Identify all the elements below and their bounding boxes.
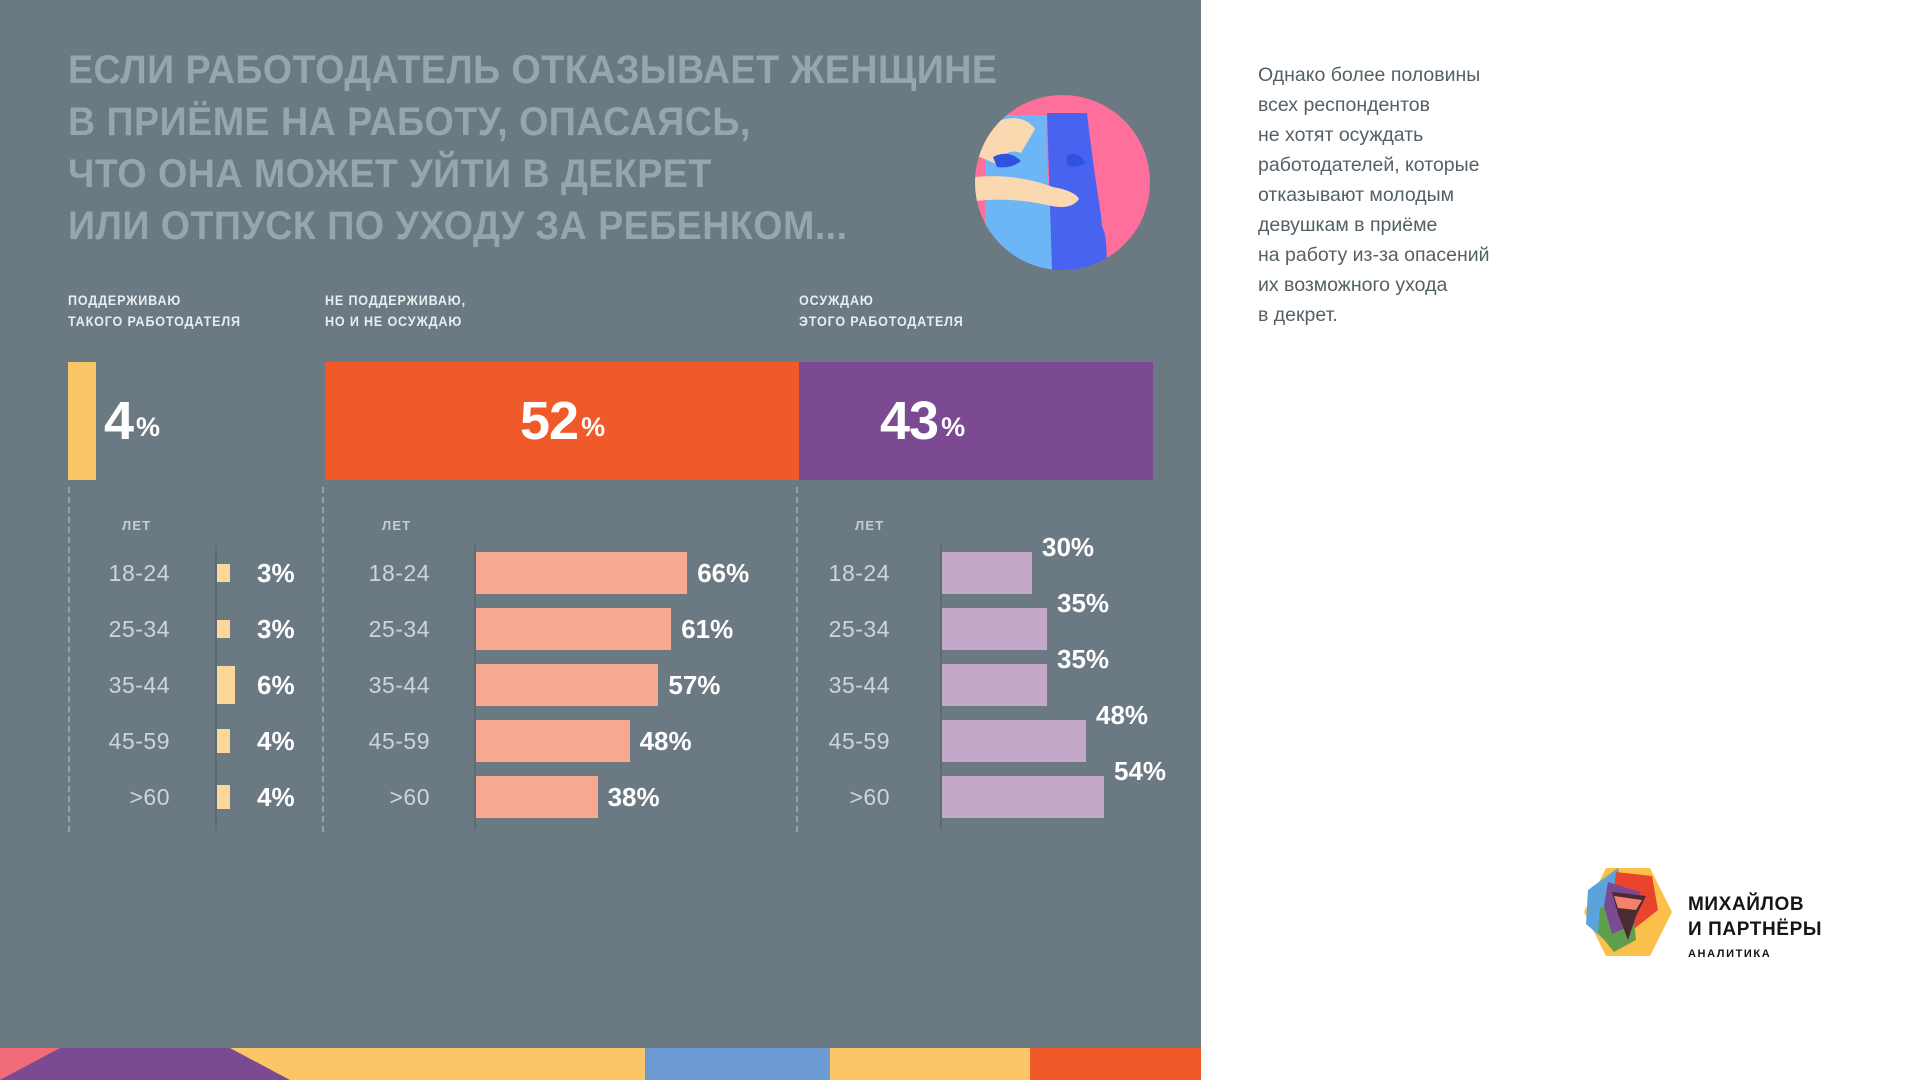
age-label: >60: [849, 776, 890, 818]
age-label: 18-24: [829, 552, 890, 594]
age-value: 35%: [1057, 588, 1109, 630]
pregnant-woman-illustration: [975, 95, 1150, 300]
column-header-condemn: Осуждаю этого работодателя: [799, 290, 964, 332]
side-note: Однако более половины всех респондентов …: [1258, 60, 1558, 330]
column-header-support: Поддерживаю такого работодателя: [68, 290, 241, 332]
age-chart-condemn: лет18-2430%25-3435%35-4435%45-5948%>6054…: [0, 500, 1201, 830]
page-title: Если работодатель отказывает женщине в п…: [68, 44, 1093, 252]
age-row: 25-3435%: [0, 608, 1201, 650]
total-value-support: 4 %: [104, 362, 160, 480]
age-row: 18-2430%: [0, 552, 1201, 594]
age-label: 45-59: [829, 720, 890, 762]
age-bar: [942, 664, 1047, 706]
total-value-condemn: 43 %: [880, 362, 965, 480]
age-bar: [942, 776, 1104, 818]
logo-name: Михайлов и партнёры: [1688, 892, 1822, 942]
company-logo: Михайлов и партнёры Аналитика: [1578, 862, 1888, 992]
age-row: 35-4435%: [0, 664, 1201, 706]
age-row: 45-5948%: [0, 720, 1201, 762]
percent-sign: %: [136, 414, 160, 441]
total-bar-support: [68, 362, 96, 480]
logo-subtitle: Аналитика: [1688, 948, 1771, 960]
total-number-condemn: 43: [880, 394, 938, 448]
bottom-color-stripe: [0, 1048, 1201, 1080]
total-value-neutral: 52 %: [520, 362, 605, 480]
percent-sign: %: [581, 414, 605, 441]
age-bar: [942, 720, 1086, 762]
age-value: 35%: [1057, 644, 1109, 686]
age-value: 48%: [1096, 700, 1148, 742]
column-header-neutral: Не поддерживаю, но и не осуждаю: [325, 290, 466, 332]
infographic-panel: Если работодатель отказывает женщине в п…: [0, 0, 1201, 1080]
percent-sign: %: [941, 414, 965, 441]
age-bar: [942, 552, 1032, 594]
age-row: >6054%: [0, 776, 1201, 818]
total-bar-condemn: [799, 362, 1153, 480]
age-label: 35-44: [829, 664, 890, 706]
age-label: 25-34: [829, 608, 890, 650]
age-unit-label: лет: [855, 518, 884, 533]
logo-hexagon-icon: [1578, 862, 1678, 962]
age-bar: [942, 608, 1047, 650]
total-number-support: 4: [104, 394, 133, 448]
age-value: 30%: [1042, 532, 1094, 574]
age-value: 54%: [1114, 756, 1166, 798]
total-number-neutral: 52: [520, 394, 578, 448]
